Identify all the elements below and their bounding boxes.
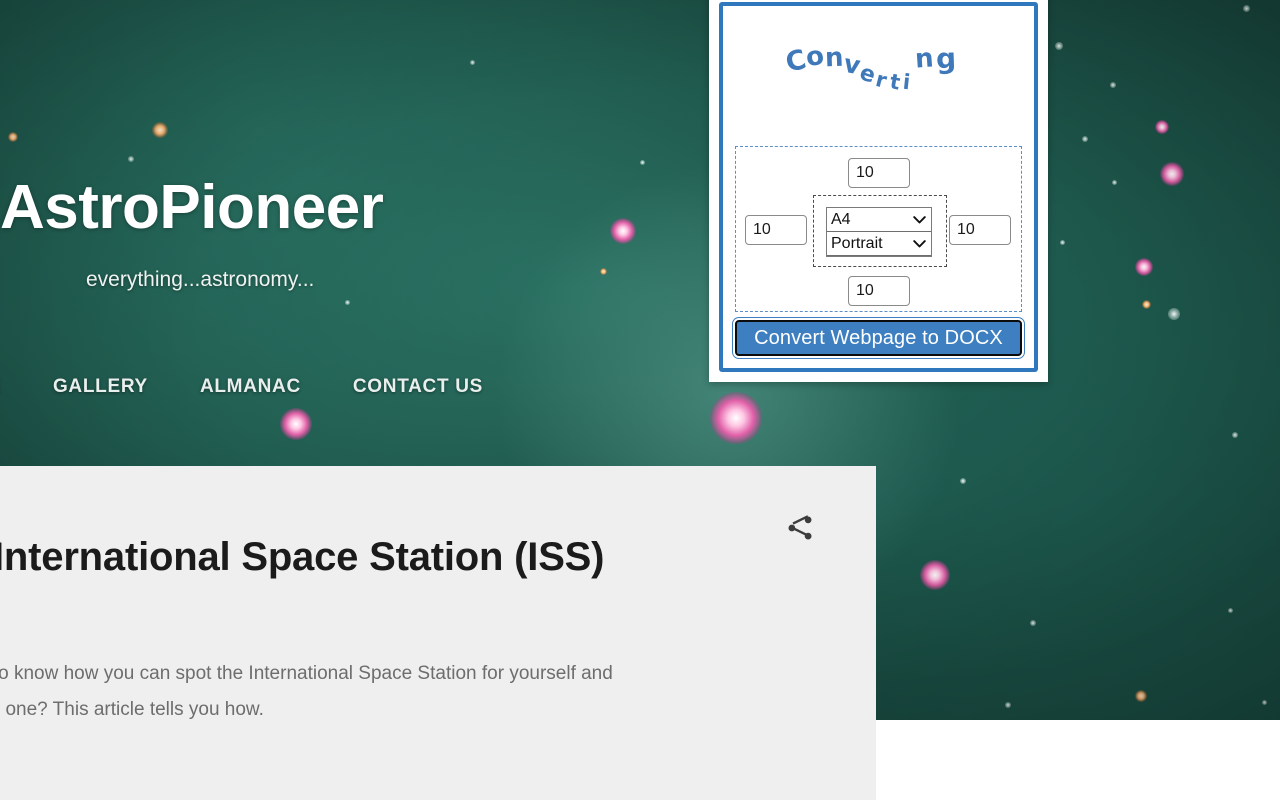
nav-item-contact-us[interactable]: CONTACT US [353, 370, 483, 404]
article-body-line-1: anted to know how you can spot the Inter… [0, 663, 613, 684]
nav-item-utube[interactable]: UTUBE [0, 370, 1, 404]
logo-letter: i [901, 70, 911, 95]
page-options-group: A4LetterLegalA3A5 PortraitLandscape [826, 207, 932, 257]
extension-action-area: Convert Webpage to DOCX [723, 312, 1034, 368]
convert-webpage-to-docx-button[interactable]: Convert Webpage to DOCX [735, 320, 1022, 356]
margin-left-input[interactable] [745, 215, 807, 245]
nav-item-almanac[interactable]: ALMANAC [200, 370, 301, 404]
logo-letter: t [887, 69, 901, 94]
logo-wordmark: Converting [784, 40, 974, 110]
main-navigation: UTUBE GALLERY ALMANAC CONTACT US [0, 370, 483, 404]
article-body-line-2: like the one? This article tells you how… [0, 699, 264, 720]
page-size-select[interactable]: A4LetterLegalA3A5 [827, 208, 931, 232]
page-preview-box: A4LetterLegalA3A5 PortraitLandscape [813, 195, 947, 267]
extension-logo: Converting [723, 6, 1034, 146]
site-title: AstroPioneer [0, 172, 383, 243]
page-root: AstroPioneer everything...astronomy... U… [0, 0, 1280, 800]
logo-letter: o [803, 41, 825, 73]
page-title: International Space Station (ISS) [0, 535, 604, 580]
extension-popup-body: Converting A4LetterLegalA3A5 [719, 2, 1038, 372]
logo-letter: g [935, 42, 956, 76]
extension-popup: Converting A4LetterLegalA3A5 [709, 0, 1048, 382]
logo-letter: n [913, 43, 934, 74]
site-tagline: everything...astronomy... [86, 268, 314, 292]
article-panel: International Space Station (ISS) anted … [0, 466, 876, 800]
share-button[interactable] [781, 509, 819, 547]
page-setup-form: A4LetterLegalA3A5 PortraitLandscape [735, 146, 1022, 312]
orientation-row: PortraitLandscape [827, 232, 931, 256]
margin-top-input[interactable] [848, 158, 910, 188]
margin-bottom-input[interactable] [848, 276, 910, 306]
page-size-row: A4LetterLegalA3A5 [827, 208, 931, 232]
logo-letter: n [824, 43, 844, 74]
margin-right-input[interactable] [949, 215, 1011, 245]
share-icon [785, 513, 815, 543]
article-body-text: anted to know how you can spot the Inter… [0, 656, 860, 728]
nav-item-gallery[interactable]: GALLERY [53, 370, 148, 404]
article-header: International Space Station (ISS) [0, 466, 876, 612]
orientation-select[interactable]: PortraitLandscape [827, 232, 931, 256]
